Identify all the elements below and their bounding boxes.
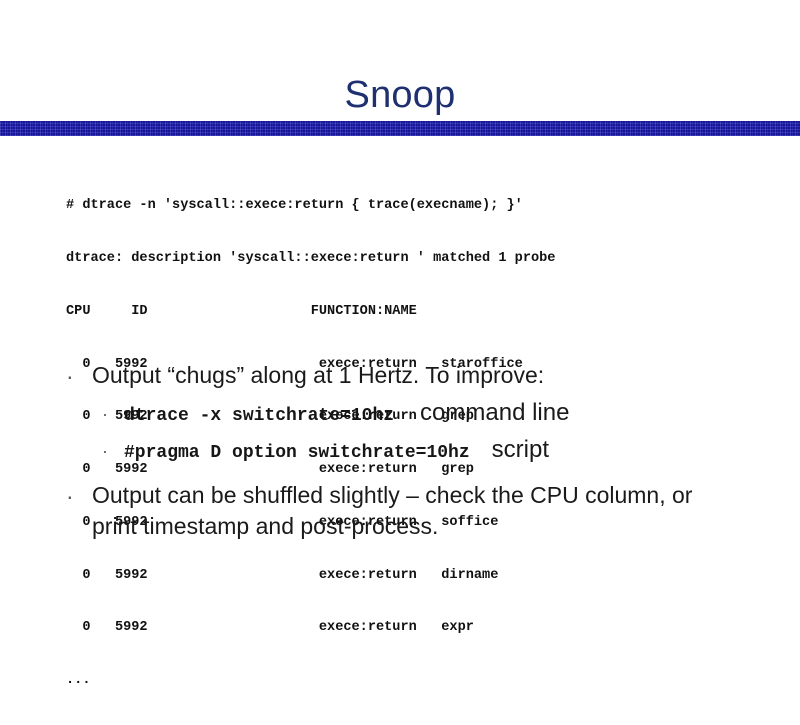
list-item: · dtrace -x switchrate=10hz command line: [102, 400, 782, 429]
bullet-list: · Output “chugs” along at 1 Hertz. To im…: [62, 360, 782, 544]
truncation-marker: ...: [66, 672, 555, 690]
bullet-dot-icon: ·: [102, 401, 124, 427]
terminal-line-description: dtrace: description 'syscall::exece:retu…: [66, 250, 555, 268]
list-item: · Output “chugs” along at 1 Hertz. To im…: [62, 360, 782, 392]
bullet-dot-icon: ·: [62, 360, 92, 392]
bullet-dot-icon: ·: [102, 438, 124, 464]
page-title: Snoop: [0, 72, 800, 118]
bullet-text-improve: Output “chugs” along at 1 Hertz. To impr…: [92, 360, 544, 391]
list-item: · Output can be shuffled slightly – chec…: [62, 480, 782, 542]
code-snippet-label-script: script: [492, 437, 549, 463]
terminal-line-command: # dtrace -n 'syscall::exece:return { tra…: [66, 197, 555, 215]
list-item: · #pragma D option switchrate=10hz scrip…: [102, 437, 782, 466]
code-snippet-switchrate-cli: dtrace -x switchrate=10hz: [124, 403, 394, 429]
code-snippet-label-command-line: command line: [420, 400, 569, 426]
title-separator-bar: [0, 121, 800, 136]
table-row: 0 5992 exece:return dirname: [66, 567, 555, 585]
bullet-dot-icon: ·: [62, 480, 92, 512]
code-snippet-switchrate-pragma: #pragma D option switchrate=10hz: [124, 440, 470, 466]
bullet-text-shuffled-output: Output can be shuffled slightly – check …: [92, 480, 712, 542]
table-row: 0 5992 exece:return expr: [66, 619, 555, 637]
terminal-header-row: CPU ID FUNCTION:NAME: [66, 303, 555, 321]
slide-canvas: Snoop # dtrace -n 'syscall::exece:return…: [0, 0, 800, 599]
